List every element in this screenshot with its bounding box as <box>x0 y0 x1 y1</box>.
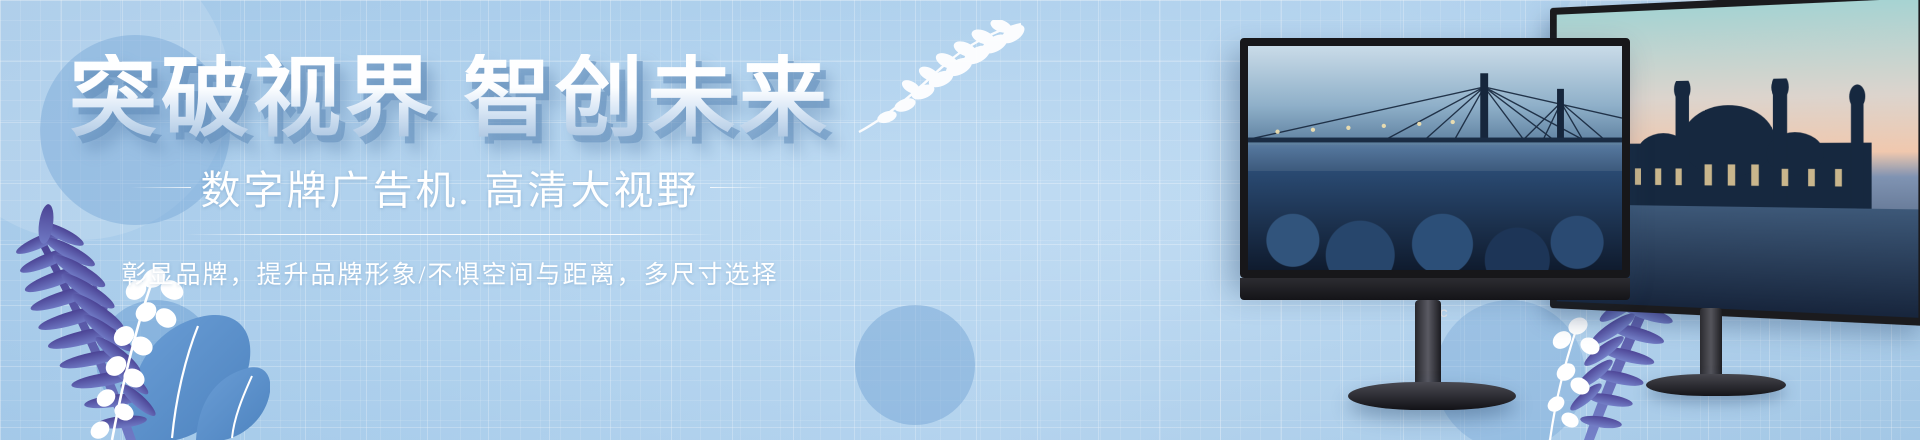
banner-text-block: 突破视界智创未来 数字牌广告机. 高清大视野 彰显品牌，提升品牌形象/不惧空间与… <box>0 54 900 291</box>
divider-line <box>185 234 715 235</box>
subtitle-row: 数字牌广告机. 高清大视野 <box>0 158 900 216</box>
monitor-primary-screen <box>1240 38 1630 278</box>
screen-image-rocks <box>1248 171 1622 270</box>
monitor-primary: AOC <box>1240 38 1630 278</box>
decorative-circle <box>855 305 975 425</box>
monitor-primary-bezel: AOC <box>1240 278 1630 300</box>
subtitle-rule-right <box>710 187 770 188</box>
subtitle-rule-left <box>131 187 191 188</box>
headline-part-2: 智创未来 <box>463 48 831 147</box>
headline: 突破视界智创未来 <box>0 54 900 142</box>
monitor-secondary-stand-base <box>1646 374 1786 396</box>
monitor-primary-stand-base <box>1348 382 1516 410</box>
monitor-primary-stand-neck <box>1415 300 1441 388</box>
subtitle: 数字牌广告机. 高清大视野 <box>191 158 710 216</box>
tagline: 彰显品牌，提升品牌形象/不惧空间与距离，多尺寸选择 <box>0 255 900 291</box>
promo-banner: 突破视界智创未来 数字牌广告机. 高清大视野 彰显品牌，提升品牌形象/不惧空间与… <box>0 0 1920 440</box>
product-monitors: AOC <box>1160 0 1920 440</box>
monitor-secondary-stand-neck <box>1700 308 1722 380</box>
headline-part-1: 突破视界 <box>69 48 437 147</box>
